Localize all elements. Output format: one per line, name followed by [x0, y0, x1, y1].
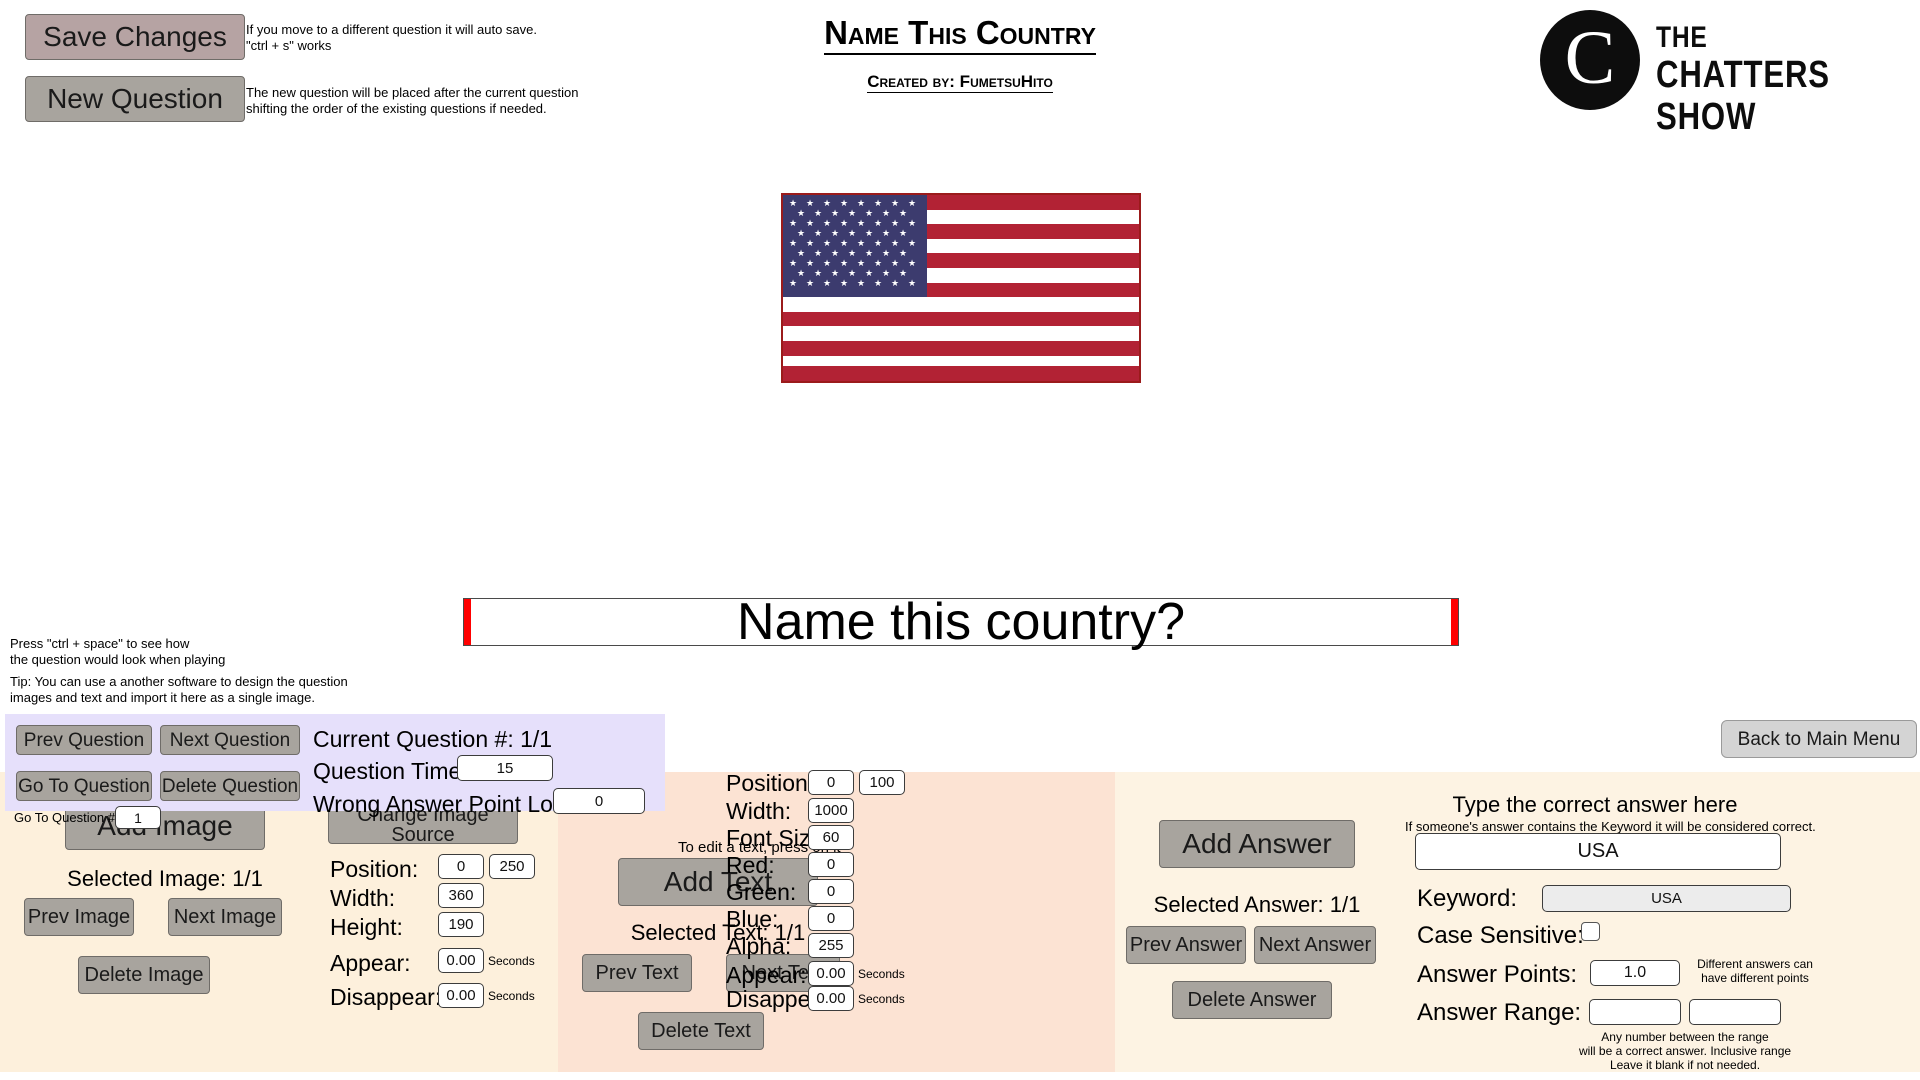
selected-answer-label: Selected Answer: 1/1: [1151, 892, 1363, 918]
text-disappear-unit: Seconds: [858, 993, 905, 1007]
next-question-label: Next Question: [170, 731, 290, 750]
text-red-input[interactable]: 0: [808, 852, 854, 877]
new-question-hint-line-1: The new question will be placed after th…: [246, 85, 636, 101]
preview-tip: Tip: You can use a another software to d…: [10, 674, 348, 705]
text-appear-unit: Seconds: [858, 968, 905, 982]
text-alpha-label: Alpha:: [726, 933, 791, 960]
text-red-value: 0: [827, 856, 835, 873]
answer-range-note-line-1: Any number between the range: [1535, 1031, 1835, 1045]
image-width-value: 360: [448, 887, 473, 904]
text-position-x-input[interactable]: 0: [808, 770, 854, 795]
correct-answer-input[interactable]: USA: [1415, 833, 1781, 870]
wrong-answer-point-loss-label: Wrong Answer Point Loss:: [313, 791, 582, 818]
prev-answer-button[interactable]: Prev Answer: [1126, 926, 1246, 964]
delete-image-label: Delete Image: [85, 965, 204, 985]
text-green-label: Green:: [726, 879, 796, 906]
answer-range-note: Any number between the range will be a c…: [1535, 1031, 1835, 1072]
flag-stripe: [783, 341, 1139, 356]
new-question-label: New Question: [47, 85, 223, 113]
prev-text-label: Prev Text: [596, 963, 679, 983]
prev-question-button[interactable]: Prev Question: [16, 725, 152, 755]
delete-text-label: Delete Text: [651, 1021, 751, 1041]
preview-tip-line-1: Tip: You can use a another software to d…: [10, 674, 348, 690]
text-blue-label: Blue:: [726, 906, 778, 933]
answer-range-label: Answer Range:: [1417, 999, 1581, 1027]
text-width-label: Width:: [726, 798, 791, 825]
text-appear-label: Appear:: [726, 962, 807, 989]
wrong-answer-point-loss-input[interactable]: 0: [553, 788, 645, 814]
flag-stripe: [783, 312, 1139, 327]
delete-question-button[interactable]: Delete Question: [160, 771, 300, 801]
brand-line-1: THE: [1656, 22, 1902, 54]
question-panel: Prev Question Next Question Go To Questi…: [5, 714, 665, 811]
question-time-label: Question Time:: [313, 758, 468, 785]
back-to-main-menu-button[interactable]: Back to Main Menu: [1721, 720, 1917, 758]
delete-answer-label: Delete Answer: [1188, 990, 1317, 1010]
save-changes-hint: If you move to a different question it w…: [246, 22, 576, 53]
keyword-value: USA: [1651, 890, 1682, 907]
image-position-label: Position:: [330, 856, 418, 883]
next-answer-button[interactable]: Next Answer: [1254, 926, 1376, 964]
text-green-input[interactable]: 0: [808, 879, 854, 904]
answer-range-min-input[interactable]: [1589, 999, 1681, 1025]
image-appear-unit: Seconds: [488, 955, 535, 969]
image-width-label: Width:: [330, 885, 395, 912]
answer-points-note: Different answers can have different poi…: [1690, 958, 1820, 986]
go-to-question-number-label: Go To Question #:: [14, 811, 119, 826]
case-sensitive-checkbox[interactable]: [1581, 922, 1600, 941]
text-position-x-value: 0: [827, 774, 835, 791]
question-time-value: 15: [497, 760, 514, 777]
keyword-input[interactable]: USA: [1542, 885, 1791, 912]
add-answer-button[interactable]: Add Answer: [1159, 820, 1355, 868]
answer-range-max-input[interactable]: [1689, 999, 1781, 1025]
delete-question-label: Delete Question: [162, 777, 298, 796]
image-width-input[interactable]: 360: [438, 883, 484, 908]
text-position-label: Position:: [726, 770, 814, 797]
new-question-hint-line-2: shifting the order of the existing quest…: [246, 101, 636, 117]
go-to-question-number-value: 1: [134, 810, 142, 826]
text-disappear-value: 0.00: [816, 990, 845, 1007]
text-width-input[interactable]: 1000: [808, 798, 854, 823]
save-hint-line-1: If you move to a different question it w…: [246, 22, 576, 38]
text-font-size-input[interactable]: 60: [808, 825, 854, 850]
text-right-handle[interactable]: [1451, 599, 1458, 645]
answer-points-input[interactable]: 1.0: [1590, 960, 1680, 986]
answer-note: If someone's answer contains the Keyword…: [1405, 819, 1785, 834]
page-subtitle-wrap: Created by: FumetsuHito: [660, 72, 1260, 92]
save-changes-label: Save Changes: [43, 23, 227, 51]
delete-answer-button[interactable]: Delete Answer: [1172, 981, 1332, 1019]
brand-line-2: CHATTERS SHOW: [1656, 54, 1902, 138]
new-question-hint: The new question will be placed after th…: [246, 85, 636, 116]
question-text-preview[interactable]: Name this country?: [463, 598, 1459, 646]
text-blue-value: 0: [827, 910, 835, 927]
text-appear-input[interactable]: 0.00: [808, 961, 854, 986]
answer-range-note-line-3: Leave it blank if not needed.: [1535, 1059, 1835, 1073]
text-position-y-value: 100: [869, 774, 894, 791]
answer-title: Type the correct answer here: [1415, 792, 1775, 818]
flag-stripe: [783, 366, 1139, 381]
image-position-y-input[interactable]: 250: [489, 854, 535, 879]
preview-hint-line-1: Press "ctrl + space" to see how: [10, 636, 225, 652]
image-position-x-input[interactable]: 0: [438, 854, 484, 879]
go-to-question-button[interactable]: Go To Question: [16, 771, 152, 801]
text-left-handle[interactable]: [464, 599, 471, 645]
save-changes-button[interactable]: Save Changes: [25, 14, 245, 60]
answer-points-note-line-1: Different answers can: [1690, 958, 1820, 972]
page-title: Name This Country: [824, 14, 1096, 55]
answer-panel: Add Answer Selected Answer: 1/1 Prev Ans…: [1115, 772, 1920, 1072]
image-disappear-value: 0.00: [446, 987, 475, 1004]
answer-points-label: Answer Points:: [1417, 961, 1577, 989]
image-disappear-input[interactable]: 0.00: [438, 983, 484, 1008]
image-appear-value: 0.00: [446, 952, 475, 969]
image-height-label: Height:: [330, 914, 403, 941]
text-disappear-input[interactable]: 0.00: [808, 986, 854, 1011]
go-to-question-label: Go To Question: [18, 777, 150, 796]
add-answer-label: Add Answer: [1182, 830, 1331, 858]
text-alpha-value: 255: [818, 937, 843, 954]
answer-range-note-line-2: will be a correct answer. Inclusive rang…: [1535, 1045, 1835, 1059]
text-blue-input[interactable]: 0: [808, 906, 854, 931]
prev-text-button[interactable]: Prev Text: [582, 954, 692, 992]
back-to-main-menu-label: Back to Main Menu: [1738, 730, 1901, 749]
image-height-input[interactable]: 190: [438, 912, 484, 937]
text-font-size-value: 60: [823, 829, 840, 846]
answer-points-value: 1.0: [1624, 964, 1646, 982]
text-panel: To edit a text, press on it Add Text Sel…: [558, 772, 1115, 1072]
brand-wordmark: THE CHATTERS SHOW: [1656, 22, 1920, 138]
image-appear-label: Appear:: [330, 950, 411, 977]
go-to-question-number-input[interactable]: 1: [115, 806, 161, 829]
next-answer-label: Next Answer: [1259, 935, 1371, 955]
image-appear-input[interactable]: 0.00: [438, 948, 484, 973]
wrong-answer-point-loss-value: 0: [595, 793, 603, 810]
preview-hint-line-2: the question would look when playing: [10, 652, 225, 668]
save-hint-line-2: "ctrl + s" works: [246, 38, 576, 54]
logo-circle-icon: C: [1540, 10, 1640, 110]
image-position-y-value: 250: [499, 858, 524, 875]
current-question-label: Current Question #: 1/1: [313, 726, 552, 753]
page-subtitle: Created by: FumetsuHito: [867, 72, 1053, 93]
text-appear-value: 0.00: [816, 965, 845, 982]
next-image-button[interactable]: Next Image: [168, 898, 282, 936]
prev-image-label: Prev Image: [28, 907, 130, 927]
prev-image-button[interactable]: Prev Image: [24, 898, 134, 936]
brand-logo: C: [1540, 10, 1640, 110]
prev-question-label: Prev Question: [24, 731, 144, 750]
text-green-value: 0: [827, 883, 835, 900]
image-disappear-unit: Seconds: [488, 990, 535, 1004]
preview-hint: Press "ctrl + space" to see how the ques…: [10, 636, 225, 667]
page-title-wrap: Name This Country: [660, 14, 1260, 52]
delete-image-button[interactable]: Delete Image: [78, 956, 210, 994]
image-position-x-value: 0: [457, 858, 465, 875]
text-position-y-input[interactable]: 100: [859, 770, 905, 795]
image-height-value: 190: [448, 916, 473, 933]
flag-stars: ★★★★★★★★ ★★★★★★★ ★★★★★★★★ ★★★★★★★ ★★★★★★…: [783, 195, 927, 297]
question-time-input[interactable]: 15: [457, 755, 553, 781]
new-question-button[interactable]: New Question: [25, 76, 245, 122]
correct-answer-value: USA: [1577, 840, 1618, 863]
keyword-label: Keyword:: [1417, 885, 1517, 913]
next-question-button[interactable]: Next Question: [160, 725, 300, 755]
question-text-value: Name this country?: [737, 592, 1185, 652]
image-disappear-label: Disappear:: [330, 984, 441, 1011]
case-sensitive-label: Case Sensitive:: [1417, 922, 1584, 950]
next-image-label: Next Image: [174, 907, 276, 927]
prev-answer-label: Prev Answer: [1130, 935, 1242, 955]
delete-text-button[interactable]: Delete Text: [638, 1012, 764, 1050]
text-red-label: Red:: [726, 852, 775, 879]
selected-image-label: Selected Image: 1/1: [65, 866, 265, 892]
answer-points-note-line-2: have different points: [1690, 972, 1820, 986]
logo-letter: C: [1565, 20, 1616, 96]
question-image-preview[interactable]: ★★★★★★★★ ★★★★★★★ ★★★★★★★★ ★★★★★★★ ★★★★★★…: [781, 193, 1141, 383]
text-width-value: 1000: [814, 802, 847, 819]
text-alpha-input[interactable]: 255: [808, 933, 854, 958]
preview-tip-line-2: images and text and import it here as a …: [10, 690, 348, 706]
